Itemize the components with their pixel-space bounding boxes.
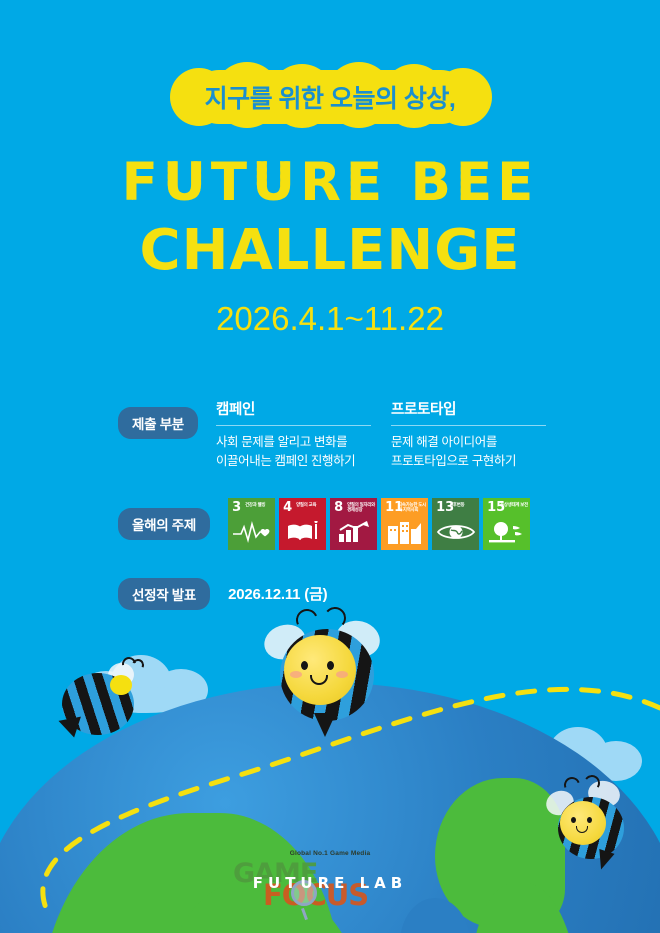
tree-icon [483, 518, 530, 546]
sdg-goal-8: 8 양질의 일자리와 경제성장 [330, 498, 377, 550]
sdg-title: 양질의 일자리와 경제성장 [347, 502, 375, 513]
announcement-date: 2026.12.11 (금) [228, 583, 327, 604]
submission-label: 제출 부분 [118, 407, 198, 439]
event-date-range: 2026.4.1~11.22 [0, 300, 660, 338]
prototype-divider [391, 425, 546, 426]
illustration-scene: Global No.1 Game Media GAME FOCUS FUTURE… [0, 613, 660, 933]
submission-row: 제출 부분 캠페인 사회 문제를 알리고 변화를 이끌어내는 캠페인 진행하기 … [118, 398, 578, 472]
book-icon [279, 518, 326, 546]
sdg-goal-13: 13 기후변동 [432, 498, 479, 550]
bee-eye [571, 817, 576, 823]
sdg-number: 3 [232, 501, 241, 514]
prototype-heading: 프로토타입 [391, 398, 566, 419]
sdg-number: 8 [334, 501, 343, 514]
bee-stinger [55, 710, 81, 737]
sdg-goal-3: 3 건강과 웰빙 [228, 498, 275, 550]
future-lab-wordmark: FUTURE LAB [215, 874, 445, 892]
bee-eye [587, 817, 592, 823]
bee-eye [327, 661, 334, 670]
bee-eye [301, 661, 308, 670]
info-block: 제출 부분 캠페인 사회 문제를 알리고 변화를 이끌어내는 캠페인 진행하기 … [118, 398, 578, 610]
sdg-title: 기후변동 [449, 502, 477, 508]
sdg-title: 지속가능한 도시와 지역사회 [398, 502, 426, 513]
announcement-label: 선정작 발표 [118, 578, 210, 610]
prototype-desc-line1: 문제 해결 아이디어를 [391, 433, 566, 452]
sdg-goal-4: 4 양질의 교육 [279, 498, 326, 550]
bee-center [262, 613, 392, 738]
submission-columns: 캠페인 사회 문제를 알리고 변화를 이끌어내는 캠페인 진행하기 프로토타입 … [216, 398, 566, 472]
theme-label: 올해의 주제 [118, 508, 210, 540]
city-icon [381, 518, 428, 546]
title-future-bee-text: FUTURE BEE [122, 152, 539, 213]
bee-smile [310, 675, 328, 685]
sdg-goal-list: 3 건강과 웰빙 4 양질의 교육 [228, 498, 534, 550]
submission-column-campaign: 캠페인 사회 문제를 알리고 변화를 이끌어내는 캠페인 진행하기 [216, 398, 391, 472]
announcement-row: 선정작 발표 2026.12.11 (금) [118, 578, 578, 610]
bee-stinger [314, 713, 336, 737]
bee-blush [290, 671, 302, 678]
sdg-title: 양질의 교육 [296, 502, 324, 508]
bee-blush [336, 671, 348, 678]
logo-stack: Global No.1 Game Media GAME FOCUS FUTURE… [215, 850, 445, 912]
eye-globe-icon [432, 518, 479, 546]
sdg-goal-15: 15 육상생태계 보전 [483, 498, 530, 550]
campaign-desc-line2: 이끌어내는 캠페인 진행하기 [216, 452, 391, 471]
campaign-divider [216, 425, 371, 426]
growth-chart-icon [330, 518, 377, 546]
poster-canvas: 지구를 위한 오늘의 상상, FUTURE BEE CHALLENGE 2026… [0, 0, 660, 933]
heartbeat-icon [228, 518, 275, 546]
banner-text: 지구를 위한 오늘의 상상, [205, 79, 456, 115]
bee-smile [576, 826, 588, 833]
sdg-title: 건강과 웰빙 [245, 502, 273, 508]
title-challenge: CHALLENGE [0, 218, 660, 283]
bee-face [560, 801, 606, 845]
sdg-number: 4 [283, 501, 292, 514]
sdg-title: 육상생태계 보전 [500, 502, 528, 508]
bee-face [110, 675, 132, 695]
cloud-banner: 지구를 위한 오늘의 상상, [170, 62, 490, 132]
bee-left [58, 661, 163, 741]
campaign-desc-line1: 사회 문제를 알리고 변화를 [216, 433, 391, 452]
prototype-desc-line2: 프로토타입으로 구현하기 [391, 452, 566, 471]
logo-area: Global No.1 Game Media GAME FOCUS FUTURE… [0, 850, 660, 917]
game-media-tagline: Global No.1 Game Media [215, 850, 445, 857]
submission-column-prototype: 프로토타입 문제 해결 아이디어를 프로토타입으로 구현하기 [391, 398, 566, 472]
bee-face [284, 635, 356, 705]
title-future-bee: FUTURE BEE [0, 152, 660, 213]
sdg-goal-11: 11 지속가능한 도시와 지역사회 [381, 498, 428, 550]
theme-row: 올해의 주제 3 건강과 웰빙 4 양질의 교육 [118, 498, 578, 550]
campaign-heading: 캠페인 [216, 398, 391, 419]
